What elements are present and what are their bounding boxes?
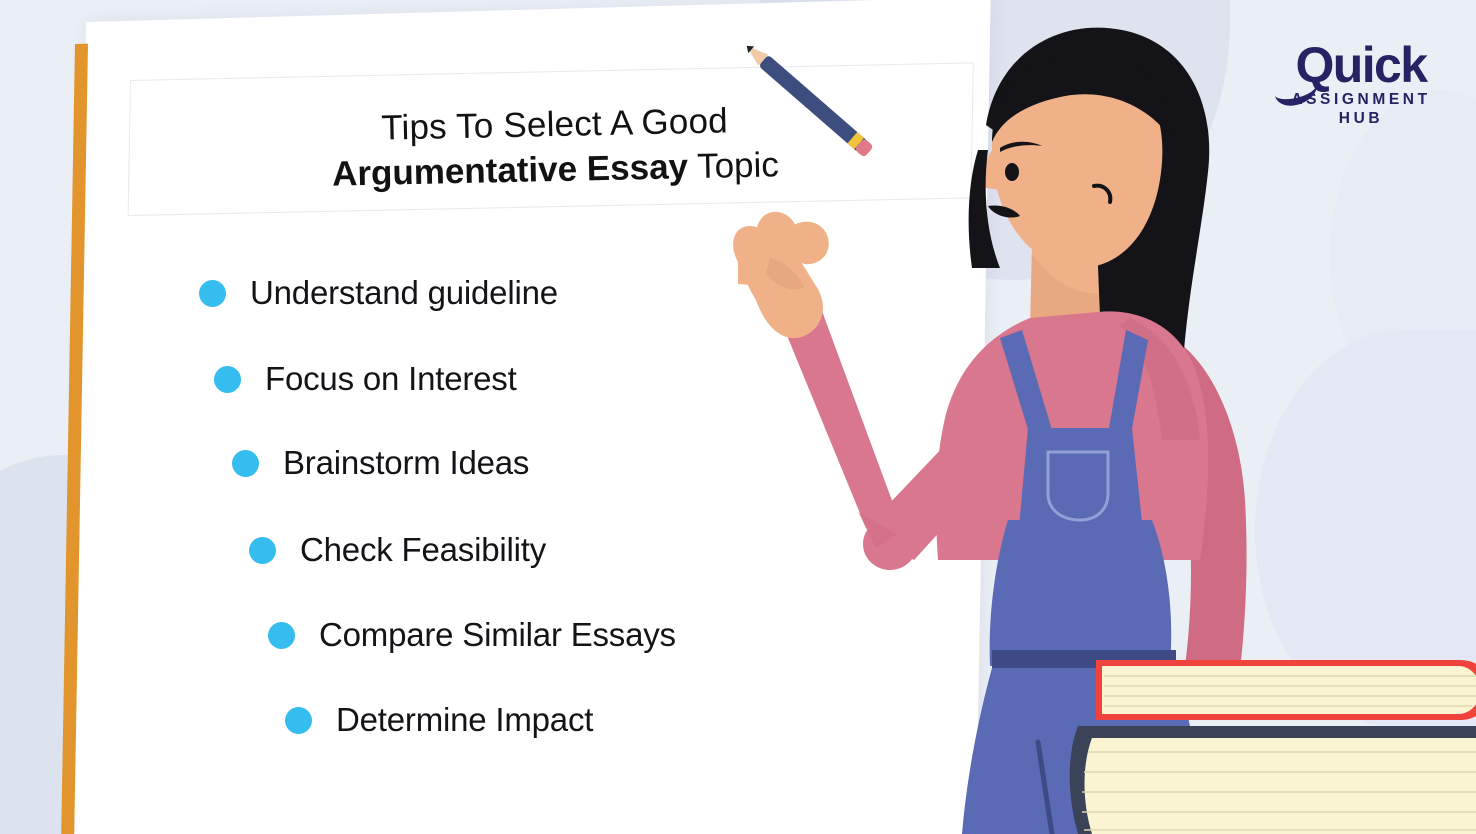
eye (1005, 163, 1019, 181)
list-item: Brainstorm Ideas (232, 444, 529, 482)
finger-middle (733, 226, 770, 286)
list-item-label: Focus on Interest (265, 360, 517, 398)
bullet-dot-icon (199, 280, 226, 307)
pencil-body (758, 55, 867, 153)
book-stack (1070, 660, 1476, 834)
bullet-dot-icon (232, 450, 259, 477)
list-item-label: Understand guideline (250, 274, 558, 312)
bullet-dot-icon (268, 622, 295, 649)
book-top (1096, 660, 1476, 720)
writing-hand (733, 212, 829, 338)
list-item-label: Check Feasibility (300, 531, 546, 569)
list-item: Compare Similar Essays (268, 616, 676, 654)
bullet-dot-icon (214, 366, 241, 393)
list-item-label: Determine Impact (336, 701, 593, 739)
bullet-dot-icon (249, 537, 276, 564)
overall-body (990, 520, 1172, 666)
list-item-label: Brainstorm Ideas (283, 444, 529, 482)
list-item: Determine Impact (285, 701, 593, 739)
list-item: Focus on Interest (214, 360, 517, 398)
infographic-canvas: Tips To Select A Good Argumentative Essa… (0, 0, 1476, 834)
pencil (742, 40, 874, 158)
thumb (788, 222, 829, 265)
list-item: Check Feasibility (249, 531, 546, 569)
bullet-dot-icon (285, 707, 312, 734)
list-item-label: Compare Similar Essays (319, 616, 676, 654)
list-item: Understand guideline (199, 274, 558, 312)
book-bottom (1070, 726, 1476, 834)
illustration-woman-writing (700, 0, 1476, 834)
